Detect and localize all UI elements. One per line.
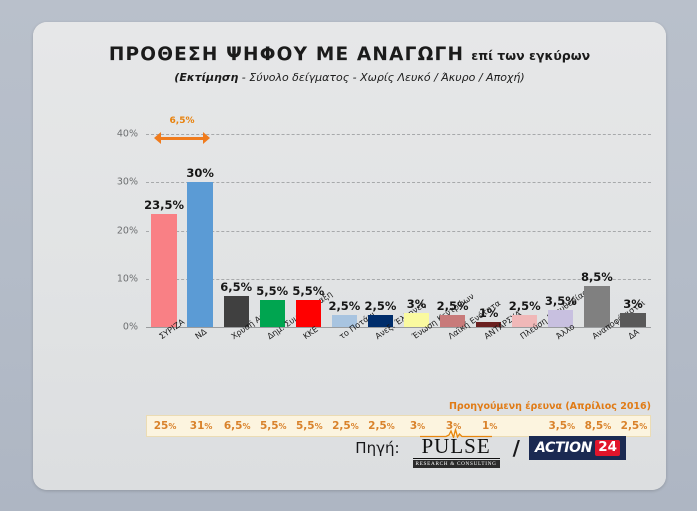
footer: Πηγή: PULSE RESEARCH & CONSULTING / ACTI… bbox=[33, 428, 666, 468]
bar-value-label: 3% bbox=[407, 297, 427, 311]
subtitle-rest: - Σύνολο δείγματος - Χωρίς Λευκό / Άκυρο… bbox=[238, 71, 524, 84]
bar-chart-plot: 0%10%20%30%40%23,5%ΣΥΡΙΖΑ30%ΝΔ6,5%Χρυσή … bbox=[146, 134, 651, 327]
pulse-wordmark: PULSE bbox=[413, 437, 500, 459]
subtitle: (Εκτίμηση - Σύνολο δείγματος - Χωρίς Λευ… bbox=[33, 71, 666, 84]
pulse-tagline: RESEARCH & CONSULTING bbox=[413, 460, 500, 468]
bar-column[interactable] bbox=[476, 134, 501, 327]
gap-arrow-right-head bbox=[203, 132, 210, 144]
title-block: ΠΡΟΘΕΣΗ ΨΗΦΟΥ ΜΕ ΑΝΑΓΩΓΗεπί των εγκύρων … bbox=[33, 44, 666, 84]
action24-number-badge: 24 bbox=[595, 440, 620, 456]
bar-value-label: 1% bbox=[479, 306, 499, 320]
bar-column[interactable] bbox=[151, 134, 176, 327]
bar[interactable] bbox=[296, 300, 321, 327]
chart-panel: ΠΡΟΘΕΣΗ ΨΗΦΟΥ ΜΕ ΑΝΑΓΩΓΗεπί των εγκύρων … bbox=[33, 22, 666, 490]
page-title: ΠΡΟΘΕΣΗ ΨΗΦΟΥ ΜΕ ΑΝΑΓΩΓΗ bbox=[109, 44, 464, 65]
bar-value-label: 2,5% bbox=[365, 299, 397, 313]
bar-column[interactable] bbox=[584, 134, 609, 327]
bar-column[interactable] bbox=[187, 134, 212, 327]
bar[interactable] bbox=[187, 182, 212, 327]
bar-value-label: 6,5% bbox=[220, 280, 252, 294]
bar-value-label: 30% bbox=[186, 166, 214, 180]
bar[interactable] bbox=[620, 313, 645, 327]
gap-annotation: 6,5% bbox=[154, 123, 210, 145]
gridline-40 bbox=[146, 134, 651, 135]
bar-value-label: 5,5% bbox=[292, 284, 324, 298]
pulse-logo[interactable]: PULSE RESEARCH & CONSULTING bbox=[409, 428, 504, 468]
y-axis-label: 0% bbox=[123, 322, 138, 333]
bar-value-label: 2,5% bbox=[437, 299, 469, 313]
y-axis-label: 30% bbox=[117, 177, 138, 188]
bar-value-label: 3% bbox=[623, 297, 643, 311]
gap-percent-sign: % bbox=[185, 116, 194, 126]
gap-arrow-left-head bbox=[154, 132, 161, 144]
bar-value-label: 23,5% bbox=[144, 198, 184, 212]
bar[interactable] bbox=[151, 214, 176, 327]
gap-annotation-label: 6,5% bbox=[170, 111, 195, 126]
action24-logo[interactable]: ACTION 24 bbox=[529, 436, 626, 460]
previous-survey-caption: Προηγούμενη έρευνα (Απρίλιος 2016) bbox=[146, 401, 651, 412]
bar-value-label: 2,5% bbox=[509, 299, 541, 313]
gap-arrow-line bbox=[159, 137, 205, 140]
bar-value-label: 8,5% bbox=[581, 270, 613, 284]
y-axis-label: 10% bbox=[117, 273, 138, 284]
bar-value-label: 5,5% bbox=[256, 284, 288, 298]
gridline-30 bbox=[146, 182, 651, 183]
y-axis-label: 40% bbox=[117, 129, 138, 140]
bar-column[interactable] bbox=[224, 134, 249, 327]
bar-value-label: 2,5% bbox=[328, 299, 360, 313]
gridline-20 bbox=[146, 231, 651, 232]
subtitle-emphasis: (Εκτίμηση bbox=[174, 71, 238, 84]
bar-value-label: 3,5% bbox=[545, 294, 577, 308]
y-axis-label: 20% bbox=[117, 225, 138, 236]
title-superscript: επί των εγκύρων bbox=[471, 48, 590, 63]
gap-value: 6,5 bbox=[170, 116, 186, 126]
action24-wordmark: ACTION bbox=[535, 440, 592, 456]
logo-separator: / bbox=[513, 436, 520, 460]
source-label: Πηγή: bbox=[355, 439, 399, 457]
